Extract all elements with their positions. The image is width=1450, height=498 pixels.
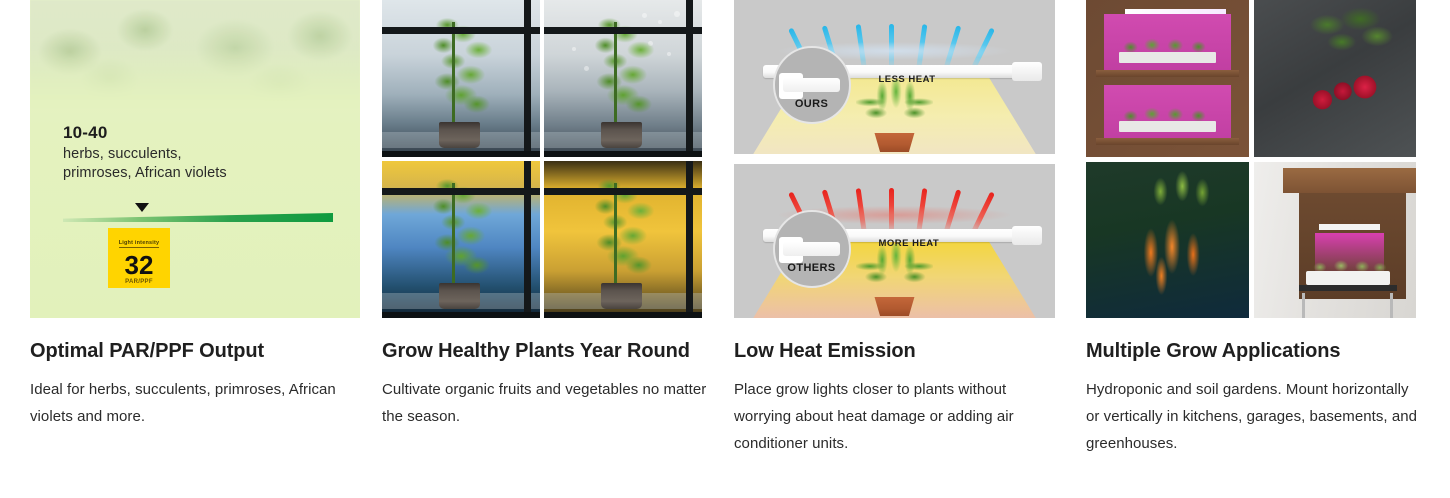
- season-photo-grid: [382, 0, 702, 318]
- body-multiple-grow-applications: Hydroponic and soil gardens. Mount horiz…: [1086, 376, 1424, 457]
- par-ppf-card: 10-40 herbs, succulents,primroses, Afric…: [30, 0, 360, 318]
- text-block-4: Multiple Grow Applications Hydroponic an…: [1086, 320, 1446, 457]
- feature-column-grow-healthy-plants: Grow Healthy Plants Year Round Cultivate…: [382, 0, 734, 498]
- text-block-2: Grow Healthy Plants Year Round Cultivate…: [382, 320, 734, 430]
- par-range-value: 10-40: [63, 123, 227, 143]
- badge-value: 32: [108, 251, 170, 279]
- heat-diagram-stack: LESS HEAT OURS: [734, 0, 1055, 318]
- application-photo-grid: [1086, 0, 1416, 318]
- potted-plant-icon: [856, 244, 933, 318]
- feature-grid: 10-40 herbs, succulents,primroses, Afric…: [0, 0, 1450, 498]
- harvested-carrots-photo: [1086, 162, 1249, 319]
- feature-column-optimal-par-ppf: 10-40 herbs, succulents,primroses, Afric…: [30, 0, 382, 498]
- golden-sunset-window-photo: [544, 161, 702, 318]
- heading-multiple-grow-applications: Multiple Grow Applications: [1086, 339, 1424, 363]
- body-low-heat-emission: Place grow lights closer to plants witho…: [734, 376, 1064, 457]
- heading-low-heat-emission: Low Heat Emission: [734, 339, 1064, 363]
- par-ppf-media: 10-40 herbs, succulents,primroses, Afric…: [30, 0, 382, 320]
- seasons-media: [382, 0, 734, 320]
- grow-light-end-cap-icon: [1012, 62, 1042, 81]
- ours-zoom-bubble: OURS: [773, 46, 851, 124]
- heading-optimal-par-ppf: Optimal PAR/PPF Output: [30, 339, 360, 363]
- badge-title: Light intensity: [119, 240, 160, 248]
- two-tier-grow-shelf-photo: [1086, 0, 1249, 157]
- par-range-block: 10-40 herbs, succulents,primroses, Afric…: [63, 123, 227, 183]
- under-cabinet-grow-light-photo: [1254, 162, 1417, 319]
- slider-marker-triangle-icon: [135, 203, 149, 212]
- harvested-radishes-photo: [1254, 0, 1417, 157]
- potted-plant-icon: [856, 80, 933, 154]
- text-block-1: Optimal PAR/PPF Output Ideal for herbs, …: [30, 320, 382, 430]
- light-intensity-slider: [63, 200, 333, 222]
- frosted-winter-window-photo: [382, 0, 540, 157]
- slider-gradient-bar: [63, 213, 333, 222]
- applications-media: [1086, 0, 1446, 320]
- grow-light-end-cap-icon: [1012, 226, 1042, 245]
- heading-grow-healthy-plants: Grow Healthy Plants Year Round: [382, 339, 712, 363]
- ours-low-heat-diagram: LESS HEAT OURS: [734, 0, 1055, 154]
- ours-label: OURS: [775, 98, 849, 110]
- succulents-photo: [30, 0, 360, 108]
- body-grow-healthy-plants: Cultivate organic fruits and vegetables …: [382, 376, 712, 430]
- rainy-window-photo: [544, 0, 702, 157]
- text-block-3: Low Heat Emission Place grow lights clos…: [734, 320, 1086, 457]
- badge-unit: PAR/PPF: [108, 279, 170, 285]
- others-zoom-bubble: OTHERS: [773, 210, 851, 288]
- others-more-heat-diagram: MORE HEAT OTHERS: [734, 164, 1055, 318]
- feature-column-low-heat-emission: LESS HEAT OURS: [734, 0, 1086, 498]
- par-range-plants: herbs, succulents,primroses, African vio…: [63, 145, 227, 183]
- light-intensity-badge: Light intensity 32 PAR/PPF: [108, 228, 170, 288]
- body-optimal-par-ppf: Ideal for herbs, succulents, primroses, …: [30, 376, 360, 430]
- autumn-window-photo: [382, 161, 540, 318]
- feature-column-multiple-grow-applications: Multiple Grow Applications Hydroponic an…: [1086, 0, 1446, 498]
- others-label: OTHERS: [775, 262, 849, 274]
- heat-diagram-media: LESS HEAT OURS: [734, 0, 1086, 320]
